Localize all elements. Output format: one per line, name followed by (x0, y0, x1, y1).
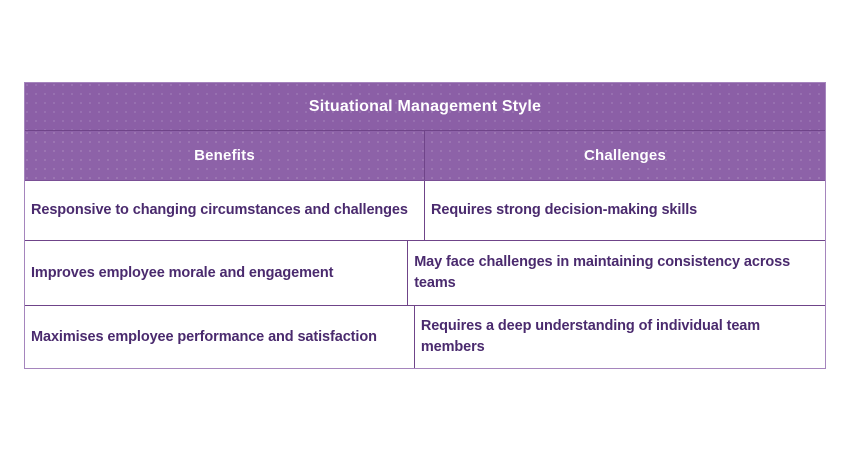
table-row: Maximises employee performance and satis… (25, 306, 825, 368)
table-cell-benefit-text: Responsive to changing circumstances and… (31, 200, 408, 221)
table-cell-benefit-text: Improves employee morale and engagement (31, 263, 333, 284)
table-cell-challenge-text: Requires a deep understanding of individ… (421, 316, 817, 357)
page-canvas: Situational Management Style Benefits Ch… (0, 0, 850, 450)
table-header-row: Benefits Challenges (25, 131, 825, 181)
table-row: Improves employee morale and engagement … (25, 241, 825, 306)
column-header-benefits: Benefits (25, 131, 425, 180)
comparison-table: Situational Management Style Benefits Ch… (24, 82, 826, 369)
table-cell-challenge-text: Requires strong decision-making skills (431, 200, 697, 221)
table-cell-benefit: Maximises employee performance and satis… (25, 306, 415, 368)
table-cell-challenge: Requires strong decision-making skills (425, 181, 825, 240)
column-header-challenges: Challenges (425, 131, 825, 180)
table-cell-challenge-text: May face challenges in maintaining consi… (414, 252, 817, 293)
table-cell-challenge: May face challenges in maintaining consi… (408, 241, 825, 305)
table-cell-challenge: Requires a deep understanding of individ… (415, 306, 825, 368)
column-header-benefits-label: Benefits (194, 148, 255, 163)
column-header-challenges-label: Challenges (584, 148, 666, 163)
table-cell-benefit: Improves employee morale and engagement (25, 241, 408, 305)
table-row: Responsive to changing circumstances and… (25, 181, 825, 241)
table-cell-benefit-text: Maximises employee performance and satis… (31, 327, 377, 348)
page-title: Situational Management Style (309, 99, 541, 115)
table-cell-benefit: Responsive to changing circumstances and… (25, 181, 425, 240)
table-title-row: Situational Management Style (25, 83, 825, 131)
